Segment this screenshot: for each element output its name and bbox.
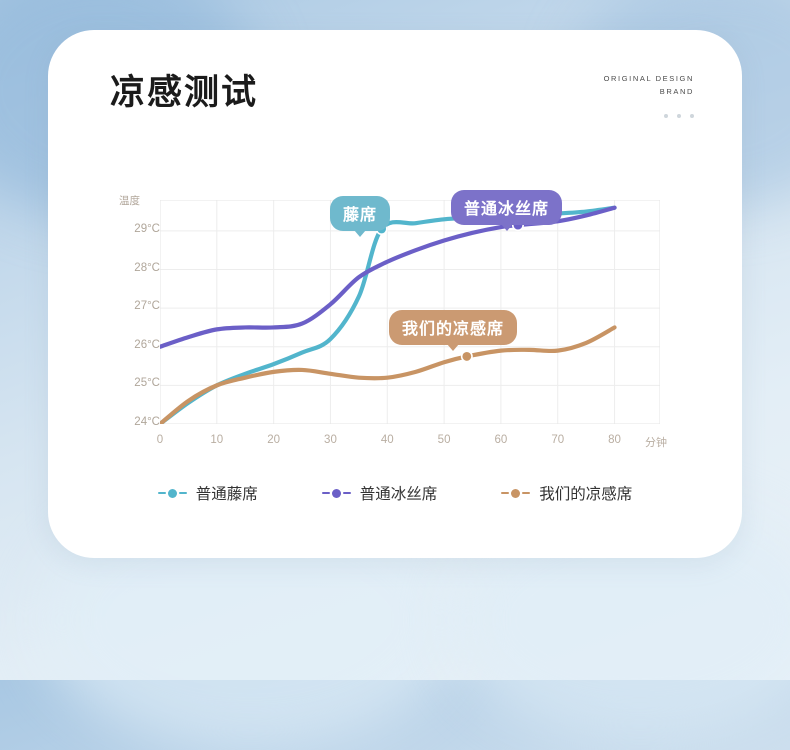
x-tick-label: 50 (429, 434, 459, 446)
legend-item: 普通冰丝席 (322, 482, 438, 504)
callout-icesilk: 普通冰丝席 (451, 190, 562, 225)
y-tick-label: 24°C (114, 416, 160, 428)
chart-legend: 普通藤席普通冰丝席我们的凉感席 (48, 482, 742, 504)
series-marker-我们的凉感席 (462, 351, 472, 361)
y-tick-label: 26°C (114, 339, 160, 351)
legend-item: 我们的凉感席 (501, 482, 632, 504)
legend-marker-icon (322, 489, 351, 498)
x-tick-label: 60 (486, 434, 516, 446)
y-tick-label: 25°C (114, 377, 160, 389)
legend-label: 普通冰丝席 (360, 482, 438, 504)
x-tick-label: 70 (543, 434, 573, 446)
x-tick-label: 80 (600, 434, 630, 446)
legend-marker-icon (158, 489, 187, 498)
y-tick-label: 29°C (114, 223, 160, 235)
y-tick-label: 27°C (114, 300, 160, 312)
legend-label: 普通藤席 (196, 482, 258, 504)
callout-rattan: 藤席 (330, 196, 390, 231)
x-tick-label: 20 (259, 434, 289, 446)
y-tick-label: 28°C (114, 262, 160, 274)
x-tick-label: 30 (315, 434, 345, 446)
callout-ours: 我们的凉感席 (389, 310, 517, 345)
x-tick-label: 10 (202, 434, 232, 446)
y-axis-tick-labels: 24°C25°C26°C27°C28°C29°C (108, 30, 160, 558)
legend-item: 普通藤席 (158, 482, 258, 504)
legend-label: 我们的凉感席 (539, 482, 632, 504)
x-tick-label: 40 (372, 434, 402, 446)
cooling-test-chart: 温度 分钟 24°C25°C26°C27°C28°C29°C 010203040… (48, 30, 742, 558)
x-tick-label: 0 (145, 434, 175, 446)
x-axis-title: 分钟 (645, 434, 667, 450)
content-card: 凉感测试 ORIGINAL DESIGN BRAND 温度 分钟 24°C25°… (48, 30, 742, 558)
legend-marker-icon (501, 489, 530, 498)
